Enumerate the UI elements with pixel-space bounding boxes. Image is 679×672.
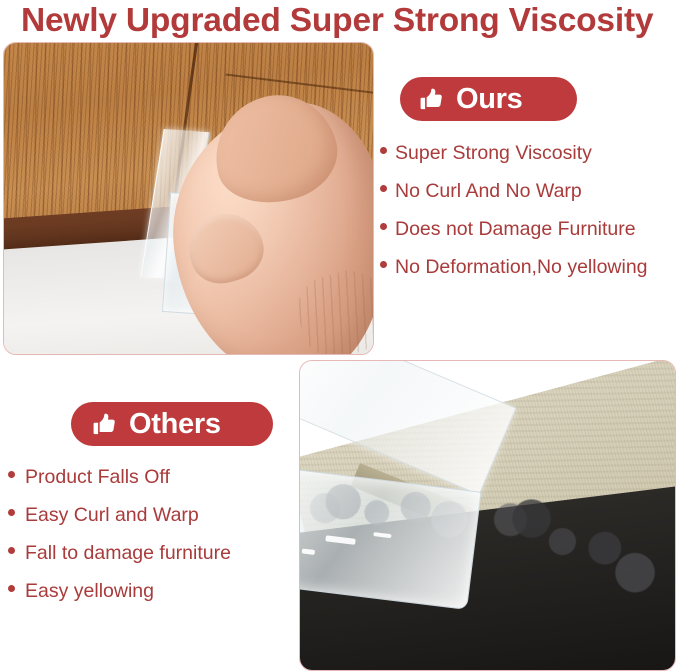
list-item-label: No Deformation,No yellowing [395,258,648,278]
list-item: Fall to damage furniture [8,544,298,582]
list-item-label: Super Strong Viscosity [395,144,592,164]
bullet-dot-icon [380,261,387,268]
list-item-label: No Curl And No Warp [395,182,582,202]
highlight-glint [301,549,315,555]
list-item: Easy Curl and Warp [8,506,298,544]
bullet-dot-icon [8,509,15,516]
page-title: Newly Upgraded Super Strong Viscosity [21,1,666,41]
list-item-label: Does not Damage Furniture [395,220,636,240]
bullet-dot-icon [380,185,387,192]
thumbs-up-icon [418,86,445,113]
list-item: Super Strong Viscosity [380,144,679,182]
list-item: No Curl And No Warp [380,182,679,220]
badge-others: Others [71,402,273,446]
highlight-glint [374,532,392,539]
skin-creases [289,264,373,354]
badge-others-label: Others [129,410,221,439]
badge-ours-label: Ours [456,85,523,114]
others-drawbacks-list: Product Falls Off Easy Curl and Warp Fal… [8,468,298,620]
list-item-label: Fall to damage furniture [25,544,231,564]
bullet-dot-icon [8,471,15,478]
highlight-glint [325,536,356,546]
list-item: Does not Damage Furniture [380,220,679,258]
badge-ours: Ours [400,77,577,121]
bullet-dot-icon [8,547,15,554]
ours-product-photo [3,42,374,355]
list-item: No Deformation,No yellowing [380,258,679,296]
bullet-dot-icon [380,147,387,154]
list-item-label: Product Falls Off [25,468,170,488]
list-item-label: Easy Curl and Warp [25,506,199,526]
bullet-dot-icon [380,223,387,230]
list-item-label: Easy yellowing [25,582,154,602]
list-item: Product Falls Off [8,468,298,506]
bullet-dot-icon [8,585,15,592]
thumbs-up-icon [91,411,118,438]
list-item: Easy yellowing [8,582,298,620]
ours-benefits-list: Super Strong Viscosity No Curl And No Wa… [380,144,679,296]
others-photo-scene [300,361,675,670]
ours-photo-scene [4,43,373,354]
others-product-photo [299,360,676,671]
